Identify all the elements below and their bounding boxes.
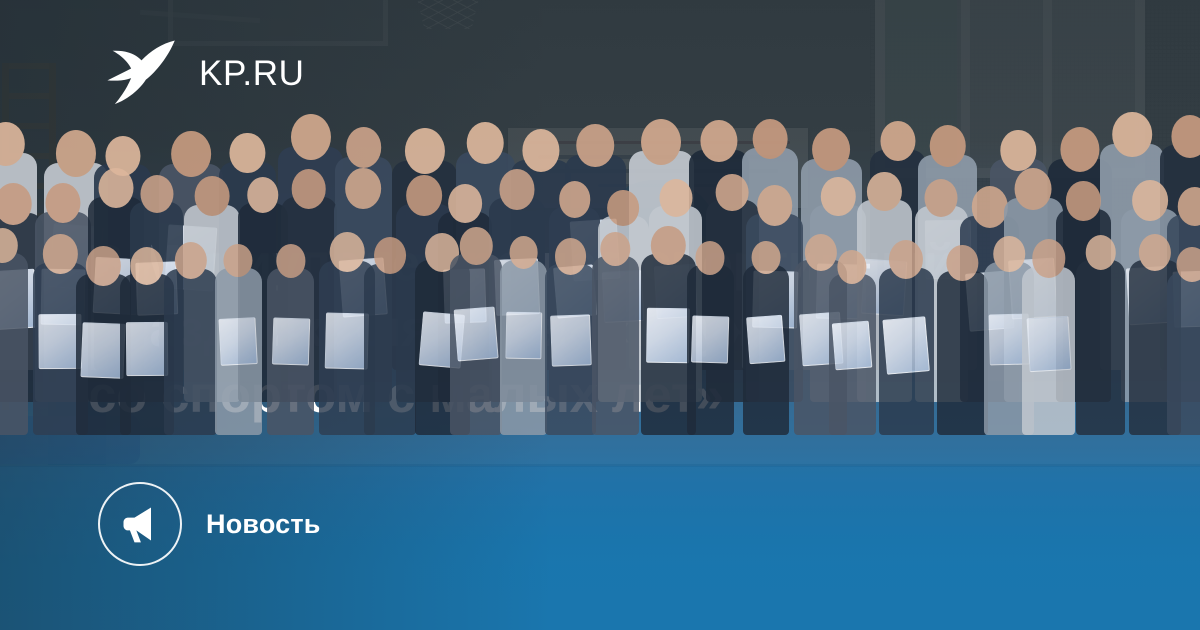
person-head: [374, 237, 406, 274]
person-head: [929, 125, 966, 167]
person-head: [345, 168, 381, 209]
certificate: [832, 321, 872, 371]
person-figure: [1076, 260, 1125, 435]
person-head: [925, 179, 958, 217]
brand-logo[interactable]: KP.RU: [103, 36, 304, 110]
certificate: [882, 316, 929, 374]
person-figure: [937, 271, 987, 435]
person-figure: [164, 269, 216, 435]
certificate: [125, 322, 167, 376]
certificate: [454, 307, 499, 362]
person-head: [467, 122, 504, 164]
social-share-card: KP.RU В Мариуполе прошел спортивныйпразд…: [0, 0, 1200, 630]
person-head: [1112, 112, 1152, 158]
person-head: [716, 174, 749, 212]
person-head: [99, 168, 134, 208]
person-figure: [215, 268, 262, 435]
person-head: [947, 245, 978, 281]
person-head: [972, 186, 1008, 228]
megaphone-icon-circle: [98, 482, 182, 566]
swallow-bird-icon: [103, 36, 177, 110]
person-head: [45, 183, 80, 223]
person-figure: [592, 256, 639, 435]
person-head: [130, 247, 163, 285]
person-head: [601, 232, 630, 266]
person-head: [641, 119, 681, 165]
person-head: [448, 184, 482, 223]
person-head: [1066, 181, 1100, 220]
person-head: [174, 242, 206, 279]
certificate: [325, 312, 370, 369]
person-figure: [829, 274, 876, 435]
person-head: [0, 183, 32, 225]
certificate: [219, 317, 258, 366]
person-head: [651, 226, 685, 266]
person-head: [224, 244, 253, 278]
person-head: [555, 238, 587, 275]
person-head: [804, 234, 836, 271]
person-head: [171, 131, 211, 177]
person-head: [889, 240, 923, 279]
person-head: [291, 169, 326, 209]
person-head: [1177, 247, 1200, 283]
person-head: [195, 176, 230, 216]
person-head: [276, 244, 305, 278]
certificate: [691, 316, 729, 364]
person-head: [499, 169, 534, 209]
megaphone-icon: [118, 502, 162, 546]
person-figure: [879, 268, 934, 435]
person-head: [405, 128, 445, 174]
person-head: [230, 133, 265, 173]
person-head: [1132, 180, 1168, 221]
person-head: [1138, 234, 1170, 271]
certificate: [746, 315, 786, 364]
person-head: [752, 241, 781, 274]
person-head: [43, 234, 77, 273]
person-figure: [267, 268, 314, 435]
person-head: [753, 119, 788, 159]
person-head: [867, 172, 901, 211]
certificate: [1026, 316, 1071, 372]
person-head: [1032, 239, 1065, 277]
person-head: [346, 127, 382, 168]
person-figure: [1167, 272, 1200, 435]
person-head: [140, 175, 173, 213]
person-figure: [743, 265, 790, 435]
person-figure: [450, 254, 502, 435]
person-head: [700, 120, 737, 163]
status-badge[interactable]: Новость: [98, 482, 321, 566]
status-badge-label: Новость: [206, 509, 321, 540]
person-head: [460, 227, 492, 264]
person-figure: [500, 260, 546, 435]
person-head: [1015, 168, 1052, 210]
person-head: [812, 128, 850, 172]
person-head: [330, 232, 365, 272]
person-figure: [364, 264, 415, 435]
person-head: [1060, 127, 1099, 172]
person-head: [291, 114, 331, 160]
certificate: [647, 308, 691, 364]
person-head: [1177, 187, 1200, 227]
person-head: [696, 241, 725, 274]
person-head: [880, 121, 915, 161]
certificate: [550, 315, 592, 368]
person-head: [659, 179, 692, 217]
person-figure: [545, 264, 596, 435]
person-head: [1000, 130, 1035, 171]
person-figure: [0, 253, 28, 435]
brand-name: KP.RU: [199, 56, 304, 91]
person-figure: [687, 265, 734, 435]
person-head: [608, 190, 640, 227]
person-head: [757, 185, 793, 226]
person-head: [86, 246, 120, 285]
person-head: [509, 236, 538, 269]
person-head: [559, 181, 591, 217]
person-head: [56, 130, 96, 176]
person-head: [1085, 235, 1116, 270]
person-head: [993, 236, 1024, 272]
certificate: [505, 312, 542, 359]
person-head: [837, 250, 866, 284]
person-figure: [1022, 267, 1076, 435]
person-head: [407, 175, 443, 216]
person-head: [247, 177, 278, 213]
person-head: [577, 124, 615, 167]
person-head: [821, 177, 855, 217]
person-head: [522, 129, 559, 172]
person-head: [1172, 115, 1200, 158]
certificate: [271, 317, 309, 365]
